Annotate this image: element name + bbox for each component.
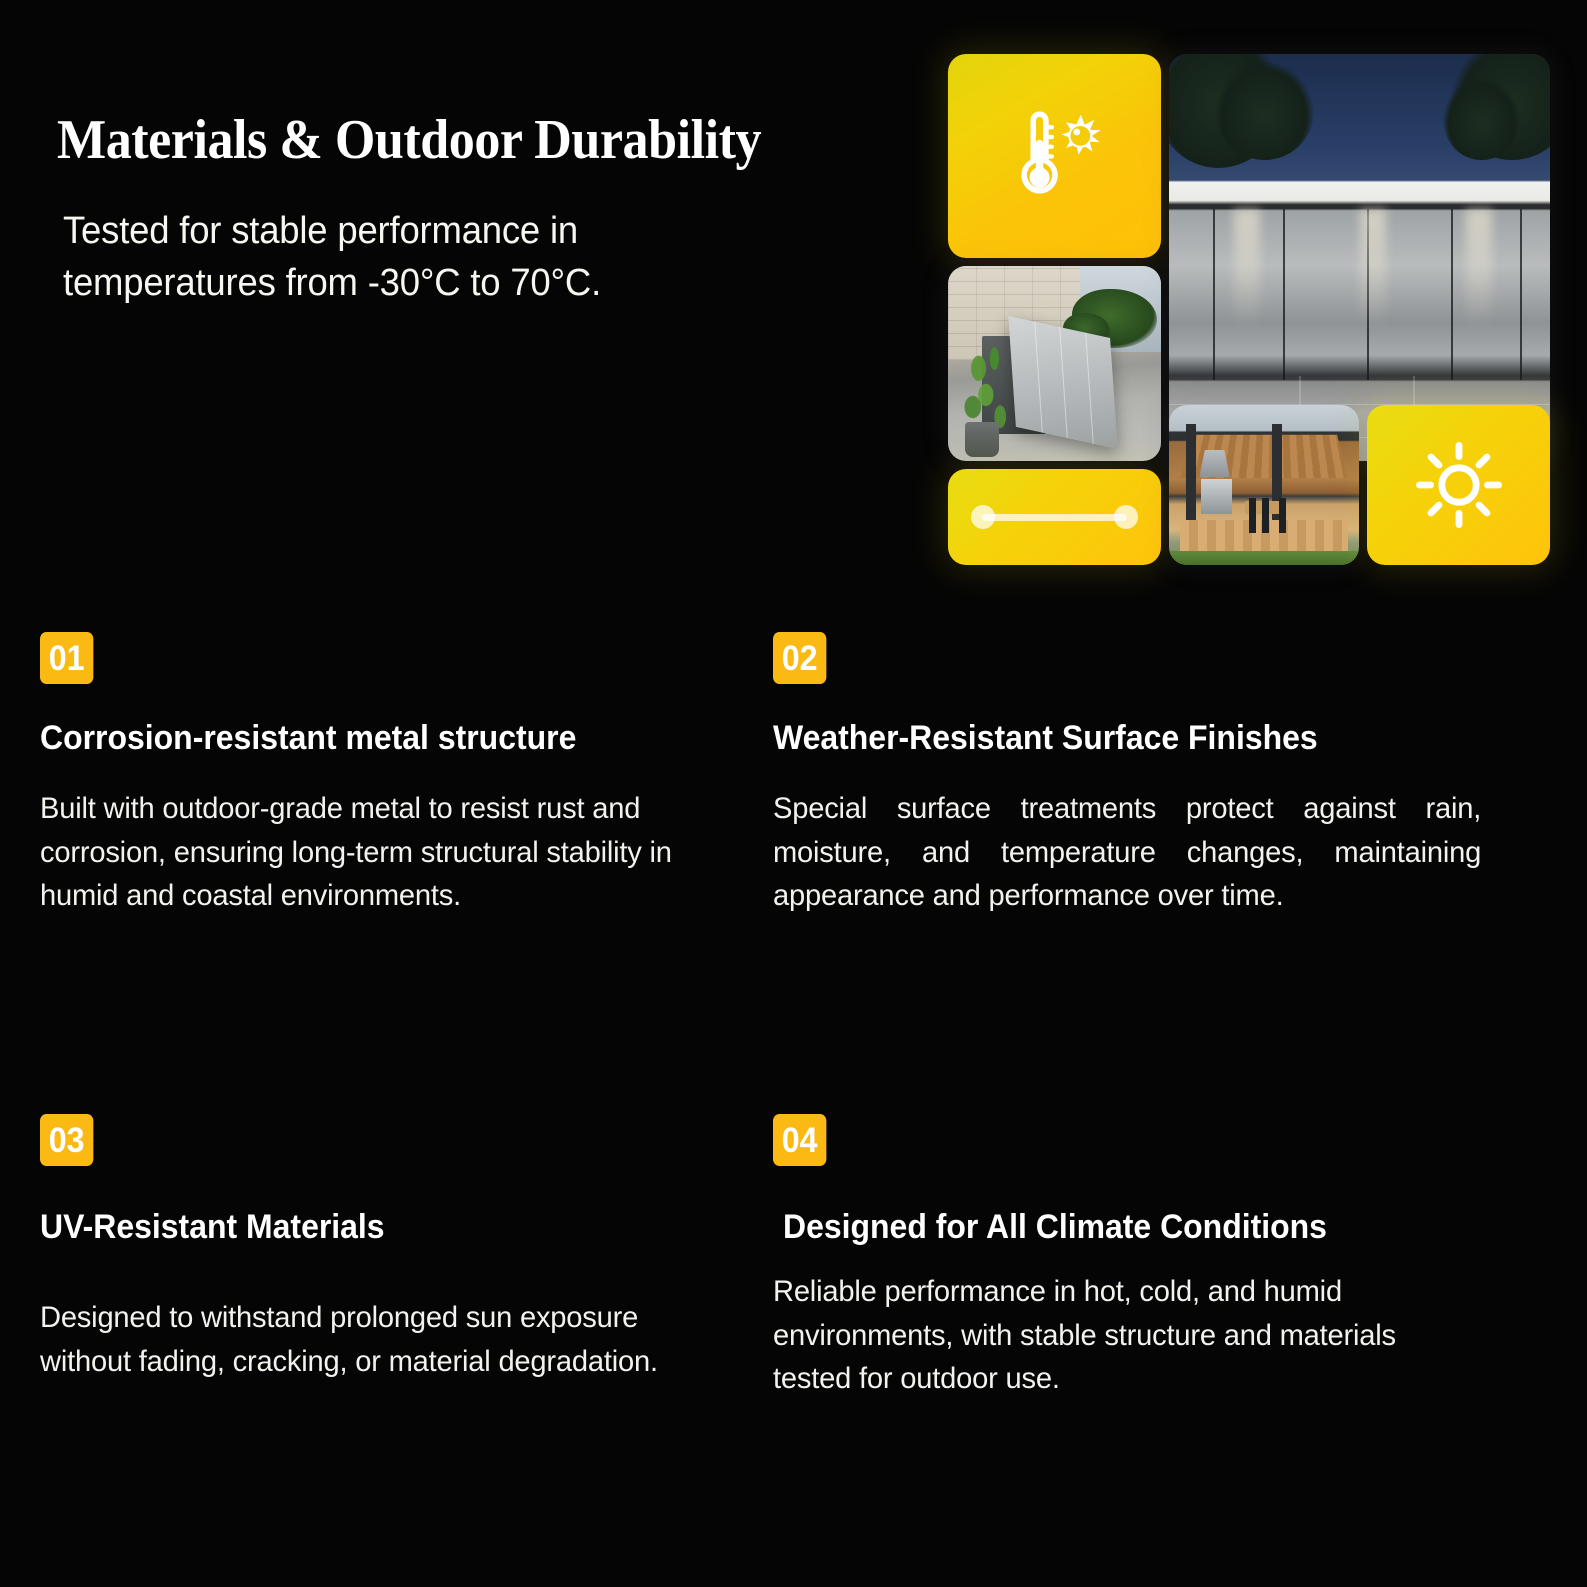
- hero-section: Materials & Outdoor Durability Tested fo…: [0, 0, 930, 590]
- feature-body: Built with outdoor-grade metal to resist…: [40, 787, 700, 918]
- photo-content: [1169, 54, 1550, 461]
- feature-body: Designed to withstand prolonged sun expo…: [40, 1296, 734, 1383]
- slider-range-icon-tile: [948, 469, 1161, 565]
- feature-body: Special surface treatments protect again…: [773, 787, 1481, 918]
- feature-title: UV-Resistant Materials: [40, 1206, 712, 1248]
- photo-content: [1169, 405, 1359, 565]
- feature-title: Designed for All Climate Conditions: [783, 1206, 1432, 1248]
- photo-content: [948, 266, 1161, 461]
- feature-number-badge: 04: [773, 1114, 826, 1166]
- feature-title: Corrosion-resistant metal structure: [40, 717, 679, 759]
- sun-icon-tile: [1367, 405, 1550, 565]
- outdoor-kitchen-lid-photo: [948, 266, 1161, 461]
- metal-pavilion-photo: [1169, 54, 1550, 461]
- feature-card-03: 03 UV-Resistant Materials Designed to wi…: [40, 1114, 755, 1383]
- feature-number-badge: 03: [40, 1114, 93, 1166]
- feature-card-01: 01 Corrosion-resistant metal structure B…: [40, 632, 720, 918]
- page-subtitle: Tested for stable performance in tempera…: [63, 205, 773, 310]
- feature-number-badge: 01: [40, 632, 93, 684]
- sun-icon: [1367, 405, 1550, 565]
- feature-card-04: 04 Designed for All Climate Conditions R…: [773, 1114, 1473, 1401]
- slider-range-icon: [971, 504, 1137, 530]
- thermometer-sun-icon: [948, 54, 1161, 258]
- feature-card-02: 02 Weather-Resistant Surface Finishes Sp…: [773, 632, 1503, 918]
- covered-outdoor-kitchen-photo: [1169, 405, 1359, 565]
- feature-body: Reliable performance in hot, cold, and h…: [773, 1270, 1452, 1401]
- feature-number-badge: 02: [773, 632, 826, 684]
- feature-title: Weather-Resistant Surface Finishes: [773, 717, 1459, 759]
- thermometer-sun-icon-tile: [948, 54, 1161, 258]
- page-title: Materials & Outdoor Durability: [57, 108, 761, 172]
- image-collage: [948, 54, 1550, 565]
